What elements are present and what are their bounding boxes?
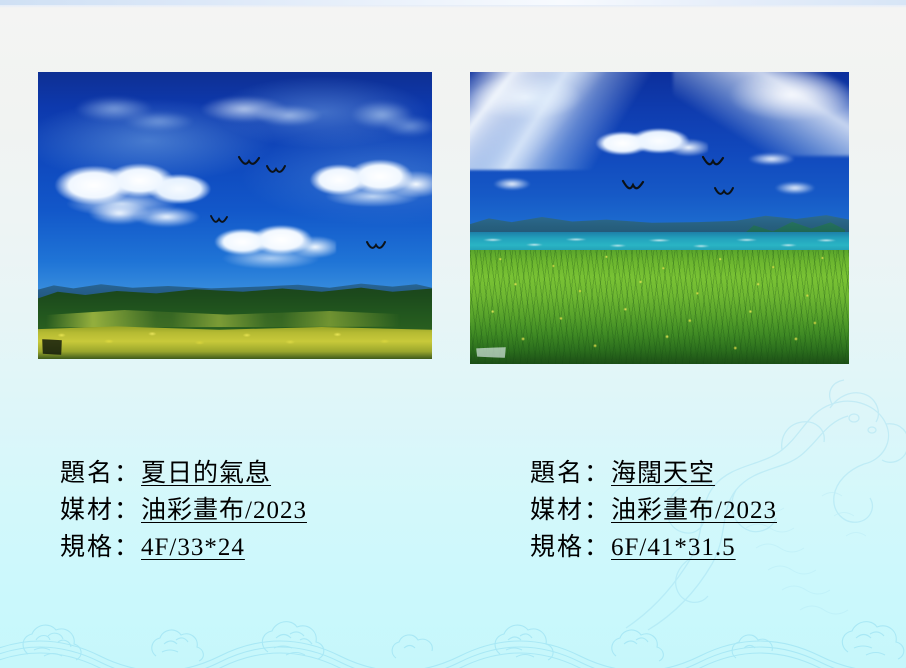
top-accent-strip-fade xyxy=(0,5,906,8)
artwork-caption-left: 題名： 夏日的氣息 媒材： 油彩畫布/2023 規格： 4F/33*24 xyxy=(60,455,307,566)
bird-icon xyxy=(238,156,260,170)
artist-signature xyxy=(476,347,506,358)
flower-speckle-layer xyxy=(470,250,849,364)
caption-label-medium: 媒材： xyxy=(530,492,611,529)
caption-value-title: 夏日的氣息 xyxy=(141,455,271,492)
cloud-small-right-upper xyxy=(737,148,809,170)
caption-value-size: 4F/33*24 xyxy=(141,529,245,566)
artwork-caption-right: 題名： 海闊天空 媒材： 油彩畫布/2023 規格： 6F/41*31.5 xyxy=(530,455,777,566)
artist-signature xyxy=(42,339,62,355)
caption-label-title: 題名： xyxy=(530,455,611,492)
caption-value-medium: 油彩畫布/2023 xyxy=(611,492,777,529)
slide-canvas: 題名： 夏日的氣息 媒材： 油彩畫布/2023 規格： 4F/33*24 題名：… xyxy=(0,0,906,668)
caption-label-medium: 媒材： xyxy=(60,492,141,529)
caption-label-size: 規格： xyxy=(530,529,611,566)
caption-value-medium: 油彩畫布/2023 xyxy=(141,492,307,529)
cloud-small-right-lower xyxy=(765,178,825,198)
bird-icon xyxy=(210,215,228,227)
caption-value-size: 6F/41*31.5 xyxy=(611,529,736,566)
cloud-center-low xyxy=(206,220,336,272)
caption-row-size: 規格： 4F/33*24 xyxy=(60,529,307,566)
bird-icon xyxy=(714,186,734,199)
bird-icon xyxy=(622,180,644,194)
cloud-center xyxy=(586,124,708,166)
cloud-large-left-base xyxy=(84,196,202,234)
artwork-image-left[interactable] xyxy=(38,72,432,359)
bird-icon xyxy=(366,240,386,253)
caption-row-medium: 媒材： 油彩畫布/2023 xyxy=(530,492,777,529)
cloud-large-right xyxy=(306,154,432,210)
caption-value-title: 海闊天空 xyxy=(611,455,715,492)
caption-row-size: 規格： 6F/41*31.5 xyxy=(530,529,777,566)
flower-field-layer xyxy=(38,325,432,359)
cloud-small-left xyxy=(484,174,540,194)
wave-pattern-icon xyxy=(0,578,906,668)
bird-icon xyxy=(266,164,286,177)
cloud-wisp-topright xyxy=(334,92,432,144)
caption-label-size: 規格： xyxy=(60,529,141,566)
caption-row-medium: 媒材： 油彩畫布/2023 xyxy=(60,492,307,529)
caption-label-title: 題名： xyxy=(60,455,141,492)
bird-icon xyxy=(702,156,724,170)
cloud-wisp-topmid xyxy=(178,88,328,134)
artwork-image-right[interactable] xyxy=(470,72,849,364)
caption-row-title: 題名： 夏日的氣息 xyxy=(60,455,307,492)
caption-row-title: 題名： 海闊天空 xyxy=(530,455,777,492)
